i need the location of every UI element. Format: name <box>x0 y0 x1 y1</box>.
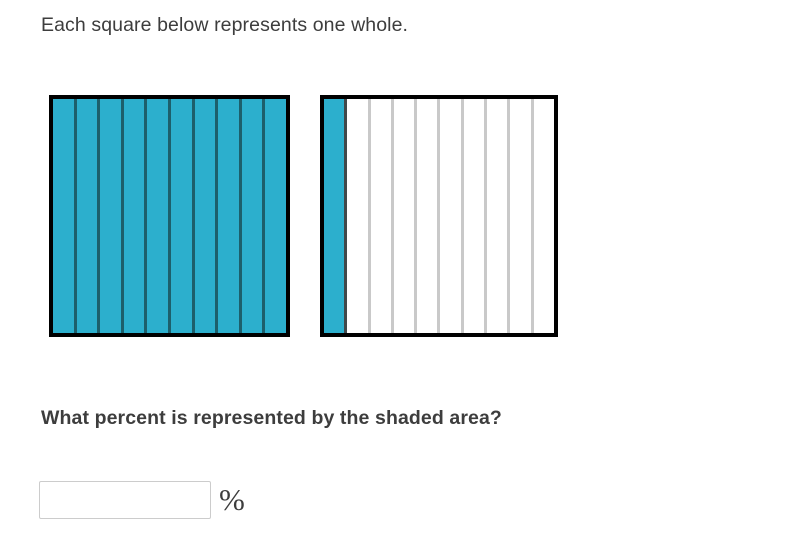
question-text: What percent is represented by the shade… <box>41 405 502 431</box>
strip-2-8 <box>487 99 510 333</box>
strip-1-7 <box>195 99 219 333</box>
whole-square-one <box>49 95 290 337</box>
strip-2-10 <box>534 99 554 333</box>
strip-2-9 <box>510 99 533 333</box>
strip-1-10 <box>265 99 286 333</box>
strip-1-9 <box>242 99 266 333</box>
strip-1-4 <box>124 99 148 333</box>
strip-1-6 <box>171 99 195 333</box>
strip-1-5 <box>147 99 171 333</box>
strip-2-1 <box>324 99 347 333</box>
strip-1-1 <box>53 99 77 333</box>
whole-square-two <box>320 95 558 337</box>
answer-row: % <box>39 481 245 519</box>
strip-1-3 <box>100 99 124 333</box>
prompt-text: Each square below represents one whole. <box>41 12 408 38</box>
percent-unit-label: % <box>219 484 245 515</box>
strip-1-2 <box>77 99 101 333</box>
strip-2-5 <box>417 99 440 333</box>
strip-2-2 <box>347 99 370 333</box>
percent-answer-input[interactable] <box>39 481 211 519</box>
strip-1-8 <box>218 99 242 333</box>
strip-2-4 <box>394 99 417 333</box>
worksheet-page: Each square below represents one whole. <box>0 0 796 546</box>
strip-2-3 <box>371 99 394 333</box>
strip-2-7 <box>464 99 487 333</box>
strip-2-6 <box>440 99 463 333</box>
